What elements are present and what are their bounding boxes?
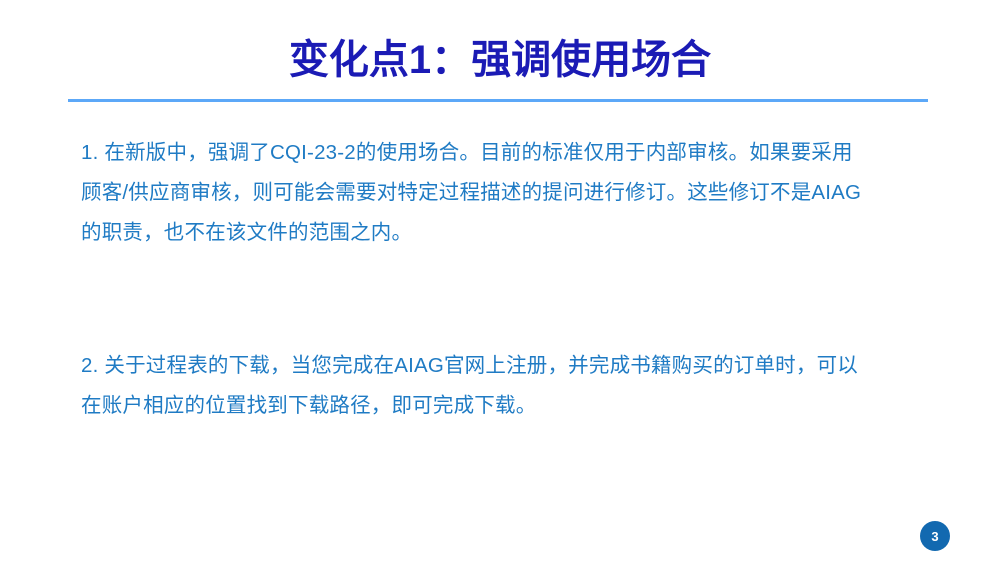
paragraph-1: 1. 在新版中，强调了CQI-23-2的使用场合。目前的标准仅用于内部审核。如果… [81,133,947,253]
paragraph-2-line-2: 在账户相应的位置找到下载路径，即可完成下载。 [81,386,947,426]
page-title: 变化点1：强调使用场合 [0,36,1000,84]
paragraph-2: 2. 关于过程表的下载，当您完成在AIAG官网上注册，并完成书籍购买的订单时，可… [81,346,947,426]
page-number-badge: 3 [920,521,950,551]
slide-body: 1. 在新版中，强调了CQI-23-2的使用场合。目前的标准仅用于内部审核。如果… [81,133,947,426]
paragraph-1-line-1: 1. 在新版中，强调了CQI-23-2的使用场合。目前的标准仅用于内部审核。如果… [81,133,947,173]
title-divider [68,99,928,102]
slide-canvas: 变化点1：强调使用场合 1. 在新版中，强调了CQI-23-2的使用场合。目前的… [0,0,1000,562]
paragraph-1-line-2: 顾客/供应商审核，则可能会需要对特定过程描述的提问进行修订。这些修订不是AIAG [81,173,947,213]
paragraph-2-line-1: 2. 关于过程表的下载，当您完成在AIAG官网上注册，并完成书籍购买的订单时，可… [81,346,947,386]
paragraph-spacer [81,253,947,346]
paragraph-1-line-3: 的职责，也不在该文件的范围之内。 [81,213,947,253]
